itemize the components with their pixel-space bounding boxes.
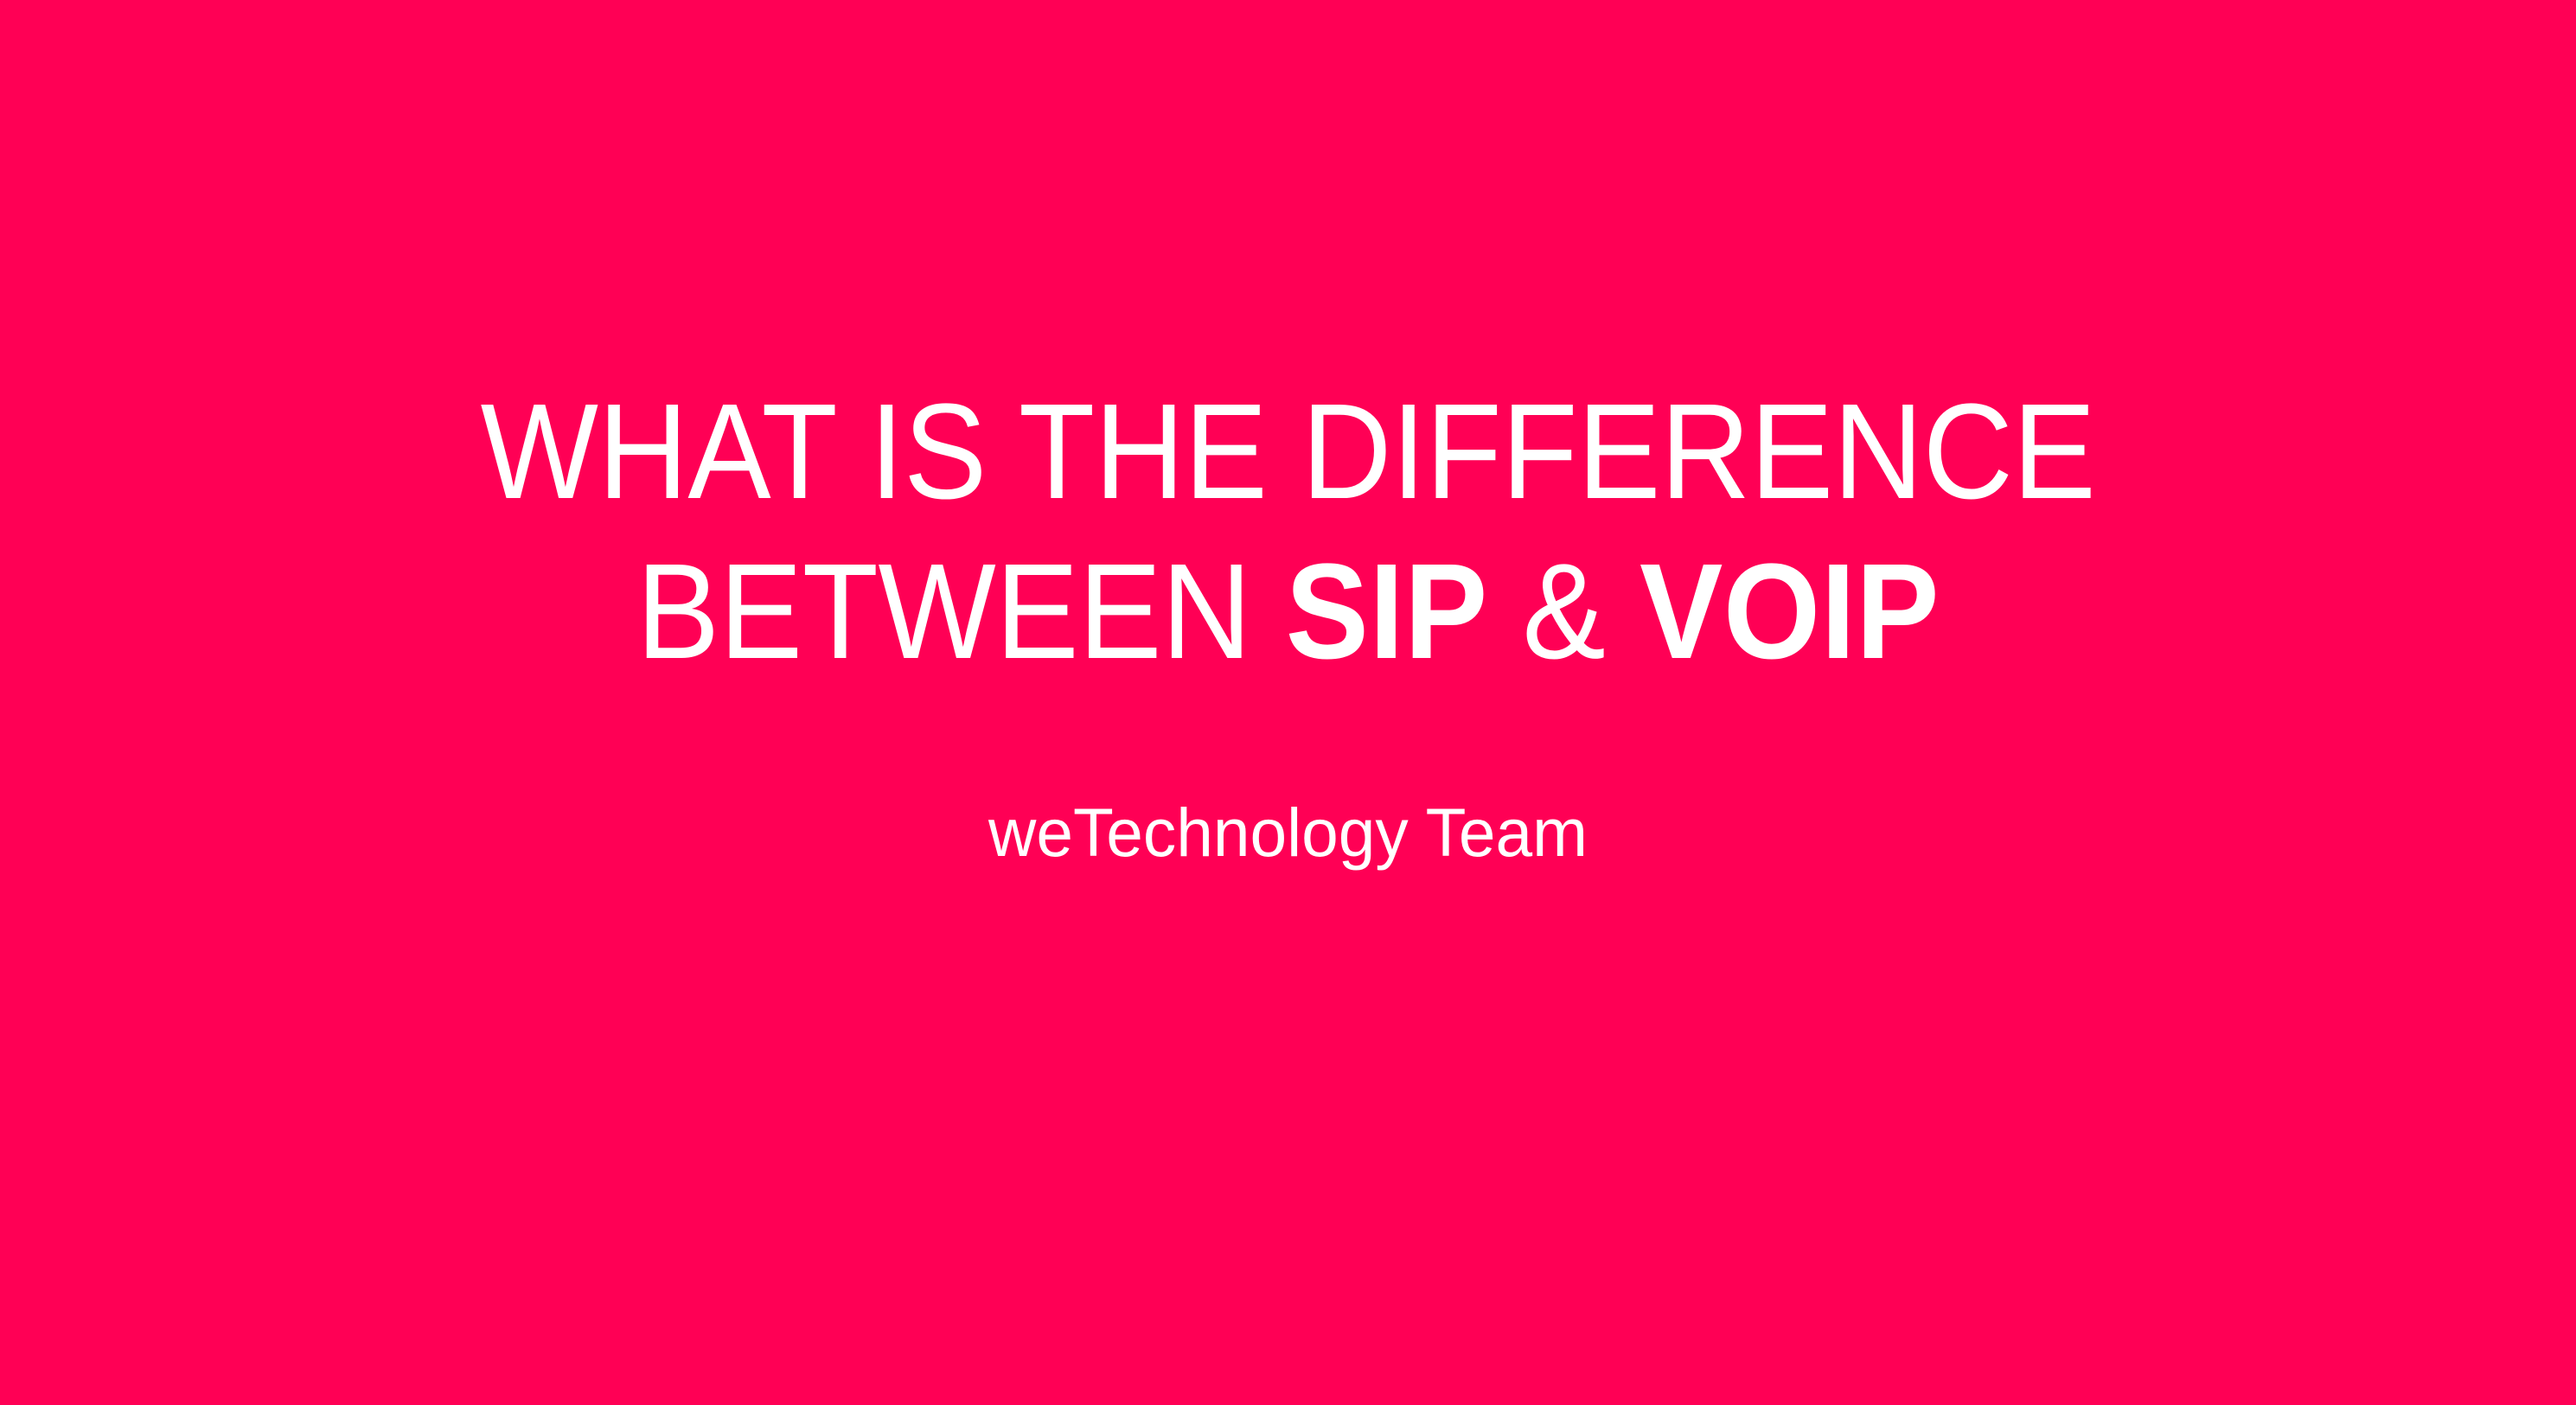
slide-subtitle: weTechnology Team [39,791,2538,874]
title-word-sip: SIP [1286,536,1488,687]
title-word-between: BETWEEN [636,536,1286,687]
title-ampersand: & [1488,536,1640,687]
title-word-voip: VOIP [1640,536,1940,687]
presentation-slide: WHAT IS THE DIFFERENCE BETWEEN SIP & VOI… [0,0,2576,1405]
slide-title-block: WHAT IS THE DIFFERENCE BETWEEN SIP & VOI… [0,372,2576,692]
slide-title-line-2: BETWEEN SIP & VOIP [103,532,2473,692]
slide-title-line-1: WHAT IS THE DIFFERENCE [103,372,2473,532]
slide-content: WHAT IS THE DIFFERENCE BETWEEN SIP & VOI… [0,0,2576,1405]
